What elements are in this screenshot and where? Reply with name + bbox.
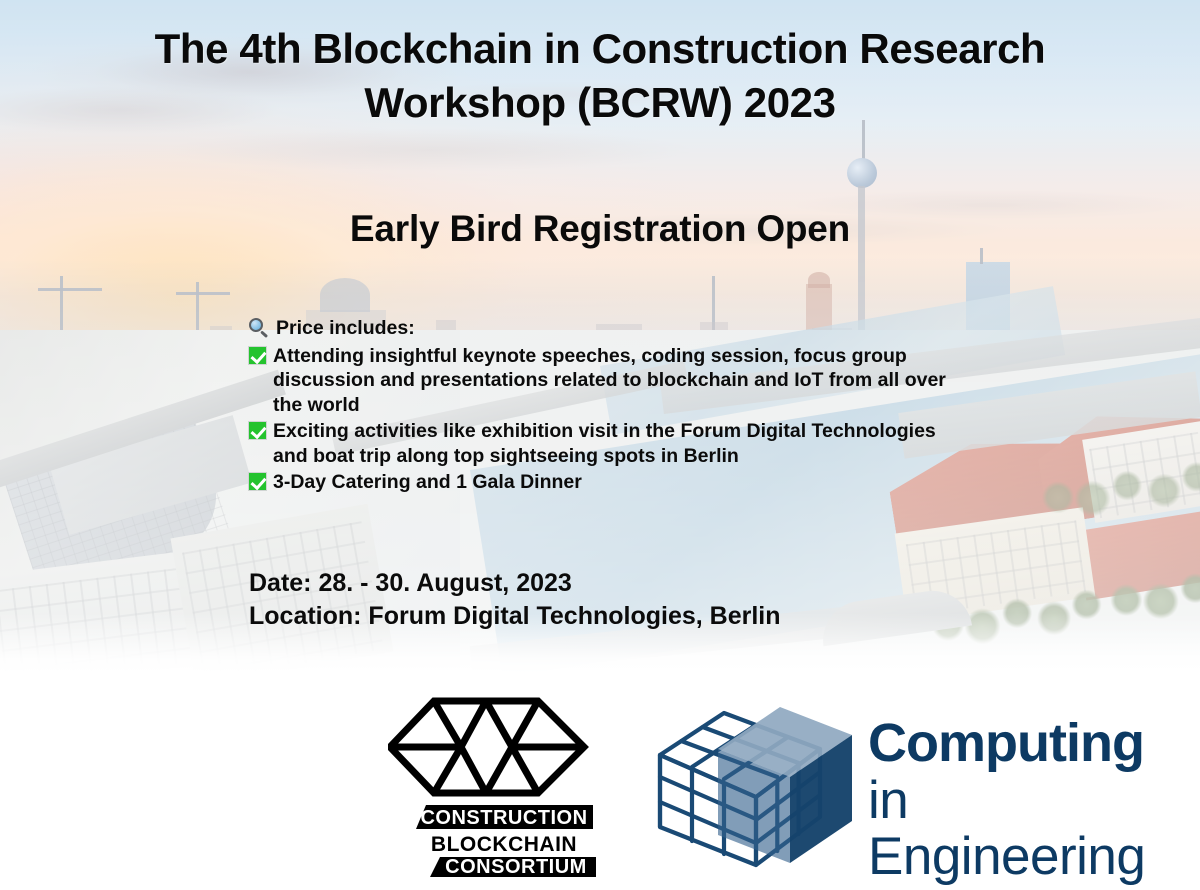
wordmark-line-1: Computing — [868, 715, 1197, 771]
construction-blockchain-consortium-logo[interactable]: CONSTRUCTION BLOCKCHAIN CONSORTIUM — [388, 695, 604, 877]
cbc-banner-consortium: CONSORTIUM — [430, 856, 596, 877]
list-item-label: Exciting activities like exhibition visi… — [273, 419, 958, 469]
magnifying-glass-icon — [248, 316, 270, 343]
green-check-icon — [248, 344, 267, 368]
price-includes-heading-row: Price includes: — [248, 316, 958, 343]
cbc-banner-blockchain: BLOCKCHAIN — [431, 833, 577, 856]
svg-text:BLOCKCHAIN: BLOCKCHAIN — [431, 833, 577, 856]
event-details: Date: 28. - 30. August, 2023 Location: F… — [249, 567, 781, 633]
event-date: Date: 28. - 30. August, 2023 — [249, 567, 781, 600]
computing-in-engineering-logo[interactable]: Computing in Engineering — [652, 697, 1197, 873]
cbc-banner-construction: CONSTRUCTION — [416, 805, 593, 829]
svg-text:CONSTRUCTION: CONSTRUCTION — [420, 807, 587, 829]
green-check-icon — [248, 419, 267, 443]
page-title: The 4th Blockchain in Construction Resea… — [0, 22, 1200, 130]
poster-root: The 4th Blockchain in Construction Resea… — [0, 0, 1200, 890]
event-location: Location: Forum Digital Technologies, Be… — [249, 600, 781, 633]
list-item-label: Attending insightful keynote speeches, c… — [273, 344, 958, 419]
text-overlay: The 4th Blockchain in Construction Resea… — [0, 0, 1200, 673]
list-item-label: 3-Day Catering and 1 Gala Dinner — [273, 470, 958, 495]
green-check-icon — [248, 470, 267, 494]
title-line-1: The 4th Blockchain in Construction Resea… — [0, 22, 1200, 76]
logo-strip: CONSTRUCTION BLOCKCHAIN CONSORTIUM — [0, 673, 1200, 890]
list-item: Attending insightful keynote speeches, c… — [248, 344, 958, 419]
list-item: Exciting activities like exhibition visi… — [248, 419, 958, 469]
hexagon-triangle-lattice-icon: CONSTRUCTION BLOCKCHAIN CONSORTIUM — [388, 695, 604, 877]
price-includes-heading: Price includes: — [276, 316, 958, 341]
computing-in-engineering-wordmark: Computing in Engineering — [868, 715, 1197, 886]
title-line-2: Workshop (BCRW) 2023 — [0, 76, 1200, 130]
subtitle: Early Bird Registration Open — [0, 208, 1200, 250]
isometric-cube-grid-icon — [652, 697, 857, 873]
svg-text:CONSORTIUM: CONSORTIUM — [445, 856, 587, 877]
solid-cube — [718, 707, 852, 863]
list-item: 3-Day Catering and 1 Gala Dinner — [248, 470, 958, 495]
price-includes-block: Price includes: Attending insightful key… — [248, 316, 958, 496]
wordmark-line-2: in Engineering — [868, 773, 1197, 885]
